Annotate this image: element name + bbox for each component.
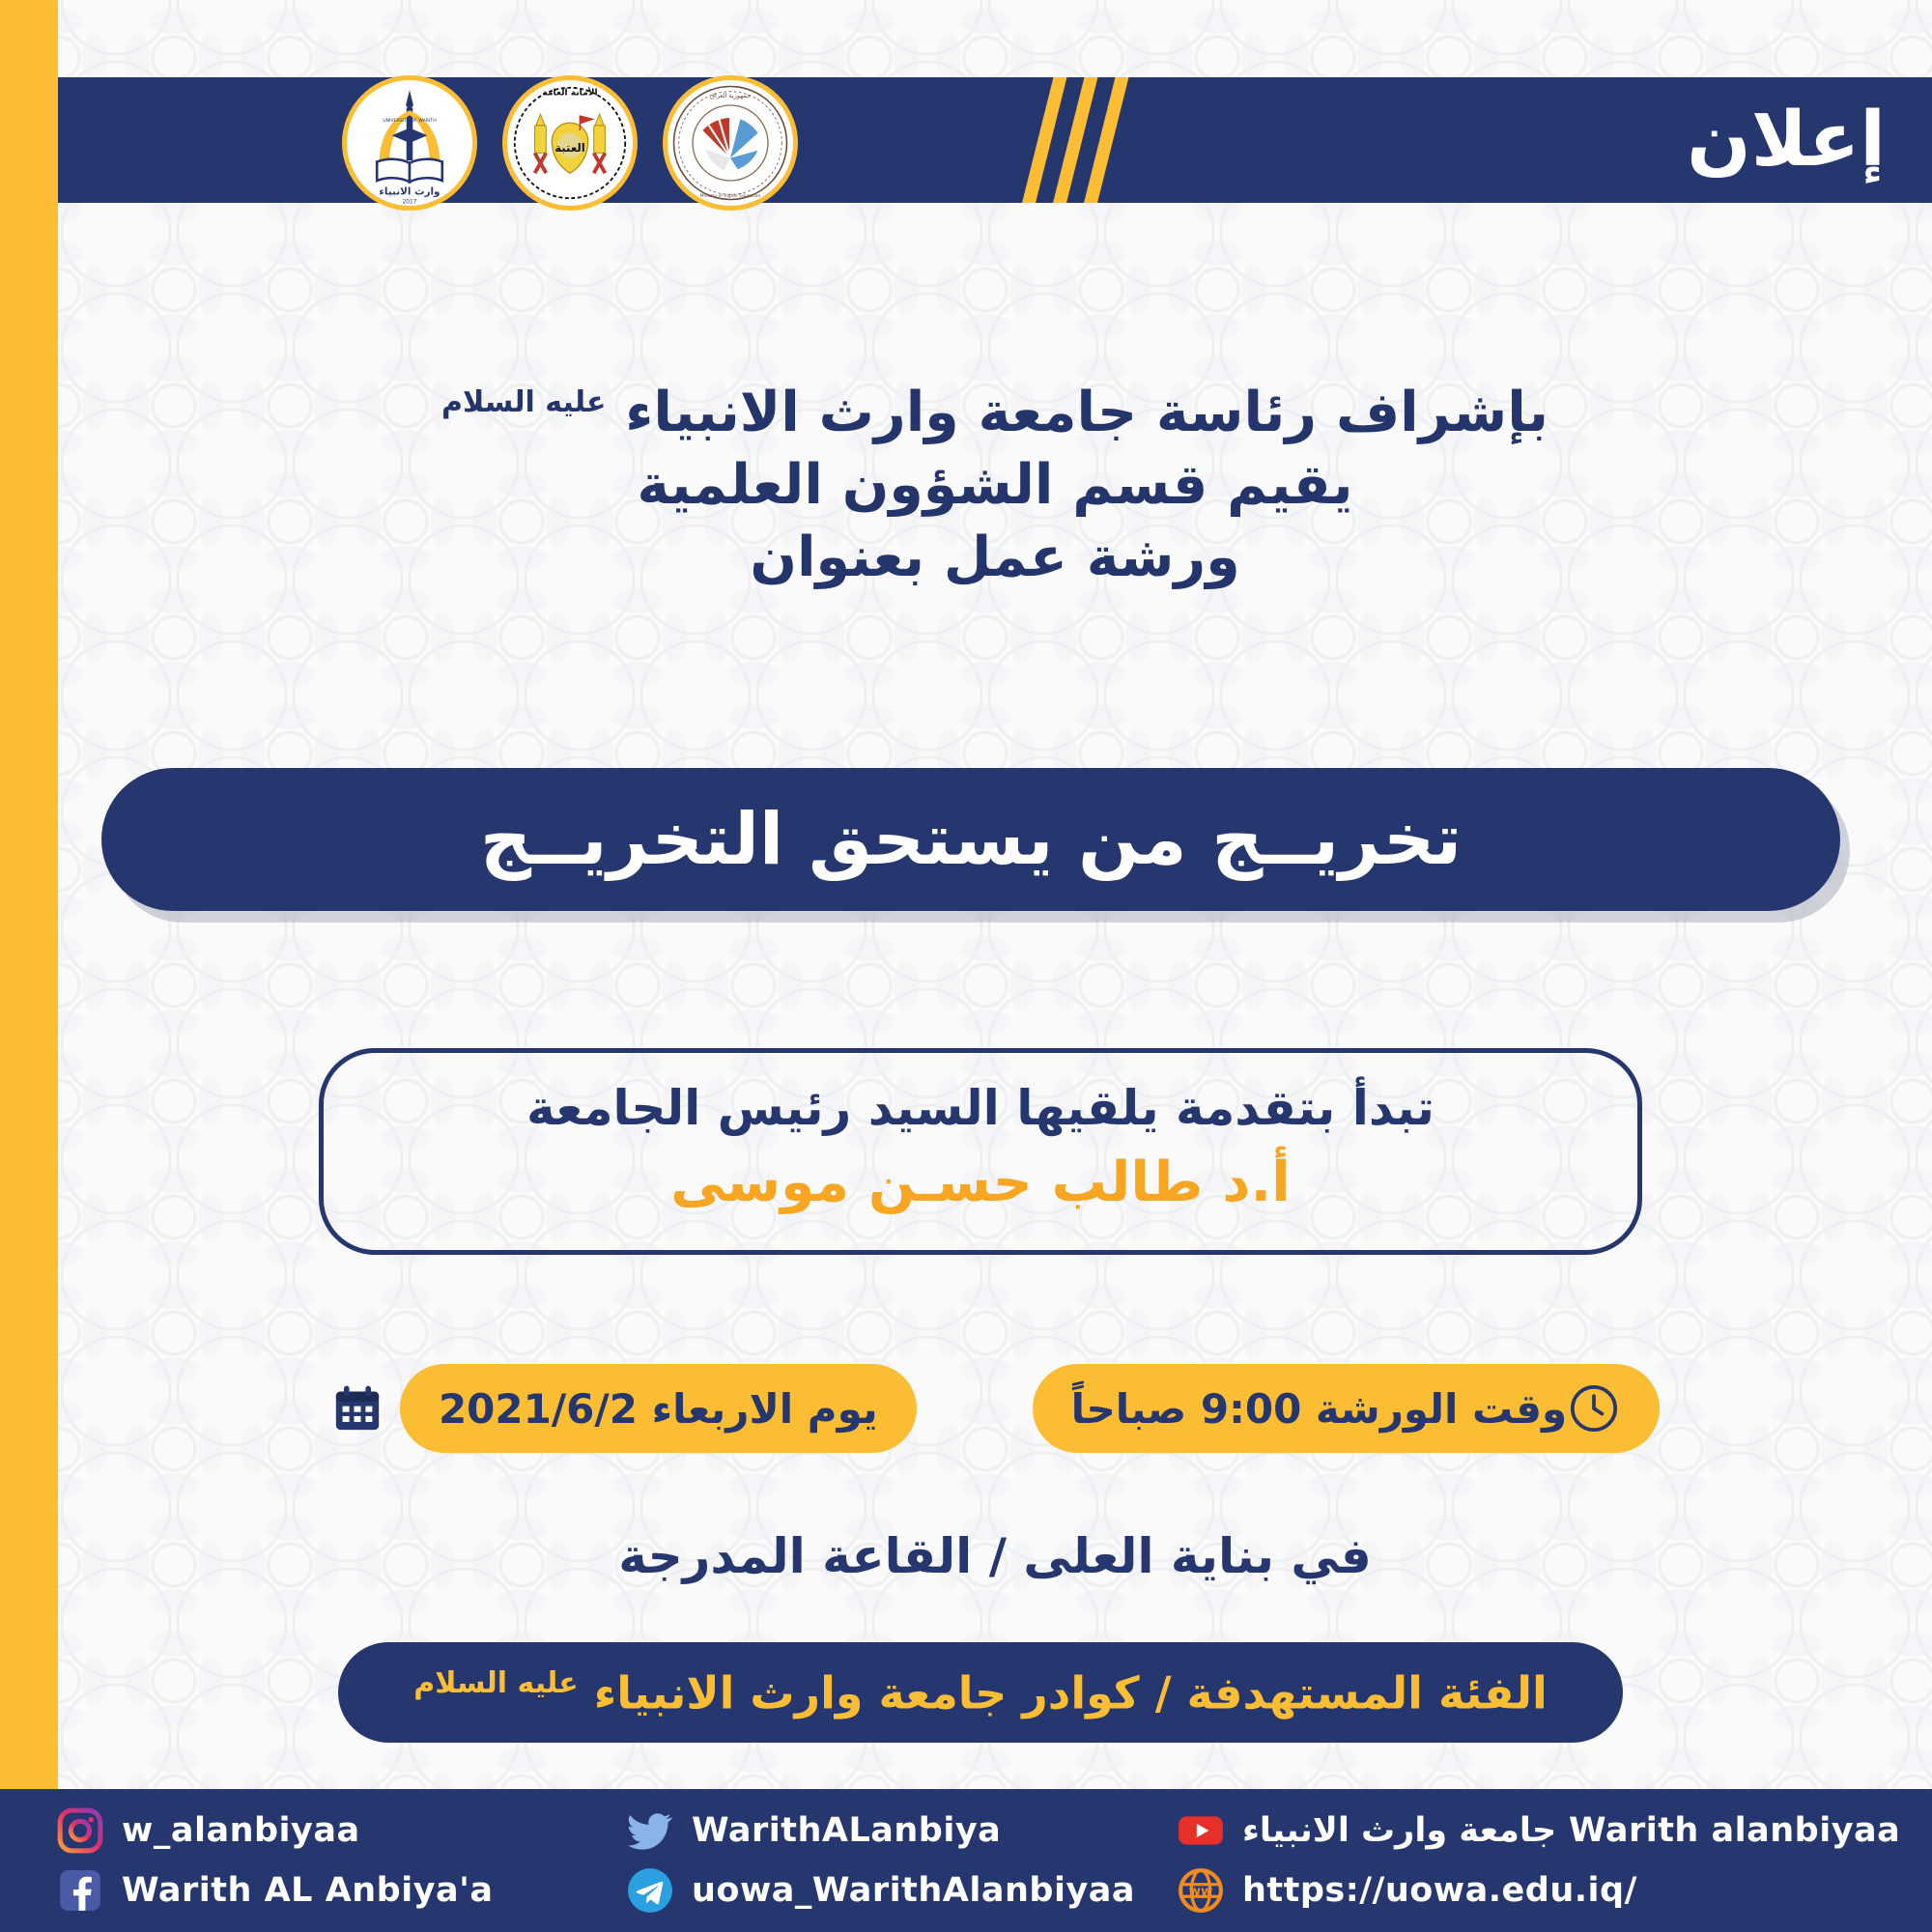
footer-item-website[interactable]: ww https://uowa.edu.iq/ [1177,1865,1872,1916]
ministry-of-higher-education-iraq-logo: جمهورية العراق Ministry of Higher Educat… [663,75,798,211]
left-gold-border [0,0,58,1932]
footer-item-youtube[interactable]: Warith alanbiyaa جامعة وارث الانبياء [1177,1805,1872,1856]
target-audience-banner: الفئة المستهدفة / كوادر جامعة وارث الانب… [338,1642,1623,1743]
speaker-box: تبدأ بتقدمة يلقيها السيد رئيس الجامعة أ.… [319,1048,1642,1255]
svg-text:UNIVERSITY OF WARITH: UNIVERSITY OF WARITH [383,118,437,124]
calendar-icon [330,1381,384,1435]
honorific-peace-be-upon-him-audience: عليه السلام [413,1666,578,1700]
footer-column-2: WarithALanbiya uowa_WarithAlanbiyaa [626,1803,1177,1918]
footer-item-facebook[interactable]: Warith AL Anbiya'a [56,1865,626,1916]
instagram-handle: w_alanbiyaa [122,1811,360,1850]
facebook-handle: Warith AL Anbiya'a [122,1871,493,1910]
svg-text:وارث الانبياء: وارث الانبياء [380,185,440,197]
date-badge-group: يوم الاربعاء 2021/6/2 [330,1364,917,1453]
footer-item-instagram[interactable]: w_alanbiyaa [56,1805,626,1856]
footer-column-3: Warith alanbiyaa جامعة وارث الانبياء ww … [1177,1803,1872,1918]
website-icon: ww [1177,1866,1225,1915]
youtube-icon [1177,1806,1225,1855]
intro-line-1: بإشراف رئاسة جامعة وارث الانبياء عليه ال… [58,377,1932,449]
intro-text: بإشراف رئاسة جامعة وارث الانبياء عليه ال… [58,377,1932,595]
target-audience-text: الفئة المستهدفة / كوادر جامعة وارث الانب… [413,1666,1548,1719]
svg-text:جمهورية العراق: جمهورية العراق [710,92,751,99]
date-label: يوم الاربعاء 2021/6/2 [439,1385,878,1433]
target-audience-label: الفئة المستهدفة / كوادر جامعة وارث الانب… [594,1666,1548,1719]
website-url: https://uowa.edu.iq/ [1242,1871,1637,1910]
logo-row: جمهورية العراق Ministry of Higher Educat… [0,75,1932,211]
workshop-title: تخريــج من يستحق التخريــج [480,798,1462,881]
telegram-icon [626,1866,674,1915]
workshop-title-banner: تخريــج من يستحق التخريــج [101,768,1840,911]
svg-text:العتبة: العتبة [554,141,585,155]
time-badge-group: وقت الورشة 9:00 صباحاً [1033,1364,1660,1453]
instagram-icon [56,1806,104,1855]
social-footer: w_alanbiyaa Warith AL Anbiya'a [0,1789,1932,1932]
intro-line-2: يقيم قسم الشؤون العلمية [58,449,1932,522]
venue-text: في بناية العلى / القاعة المدرجة [58,1528,1932,1584]
date-time-row: وقت الورشة 9:00 صباحاً يوم الاربعاء 2021… [58,1350,1932,1466]
footer-column-1: w_alanbiyaa Warith AL Anbiya'a [56,1803,626,1918]
youtube-handle: Warith alanbiyaa جامعة وارث الانبياء [1242,1811,1900,1850]
footer-item-telegram[interactable]: uowa_WarithAlanbiyaa [626,1865,1177,1916]
clock-icon [1567,1381,1621,1435]
al-amana-al-amma-al-abbas-shrine-logo: العتبة الأمانة العامة [502,75,638,211]
speaker-role: تبدأ بتقدمة يلقيها السيد رئيس الجامعة [366,1078,1595,1139]
time-label: وقت الورشة 9:00 صباحاً [1071,1385,1567,1433]
facebook-icon [56,1866,104,1915]
svg-text:الأمانة العامة: الأمانة العامة [542,87,597,99]
intro-line-1-text: بإشراف رئاسة جامعة وارث الانبياء [625,381,1548,444]
university-of-warith-al-anbiya-logo: وارث الانبياء 2017 UNIVERSITY OF WARITH [342,75,477,211]
intro-line-3: ورشة عمل بعنوان [58,522,1932,594]
time-badge: وقت الورشة 9:00 صباحاً [1033,1364,1660,1453]
honorific-peace-be-upon-him: عليه السلام [441,385,606,419]
svg-text:Ministry of Higher Education: Ministry of Higher Education [700,193,761,199]
footer-item-twitter[interactable]: WarithALanbiya [626,1805,1177,1856]
speaker-name: أ.د طالب حسـن موسى [366,1149,1595,1217]
svg-text:ww: ww [1189,1885,1213,1899]
svg-text:2017: 2017 [403,199,417,205]
twitter-handle: WarithALanbiya [692,1811,1001,1850]
announcement-poster: إعلان جمهورية العراق Ministry of Higher … [0,0,1932,1932]
telegram-handle: uowa_WarithAlanbiyaa [692,1871,1135,1910]
twitter-icon [626,1806,674,1855]
date-badge: يوم الاربعاء 2021/6/2 [400,1364,917,1453]
